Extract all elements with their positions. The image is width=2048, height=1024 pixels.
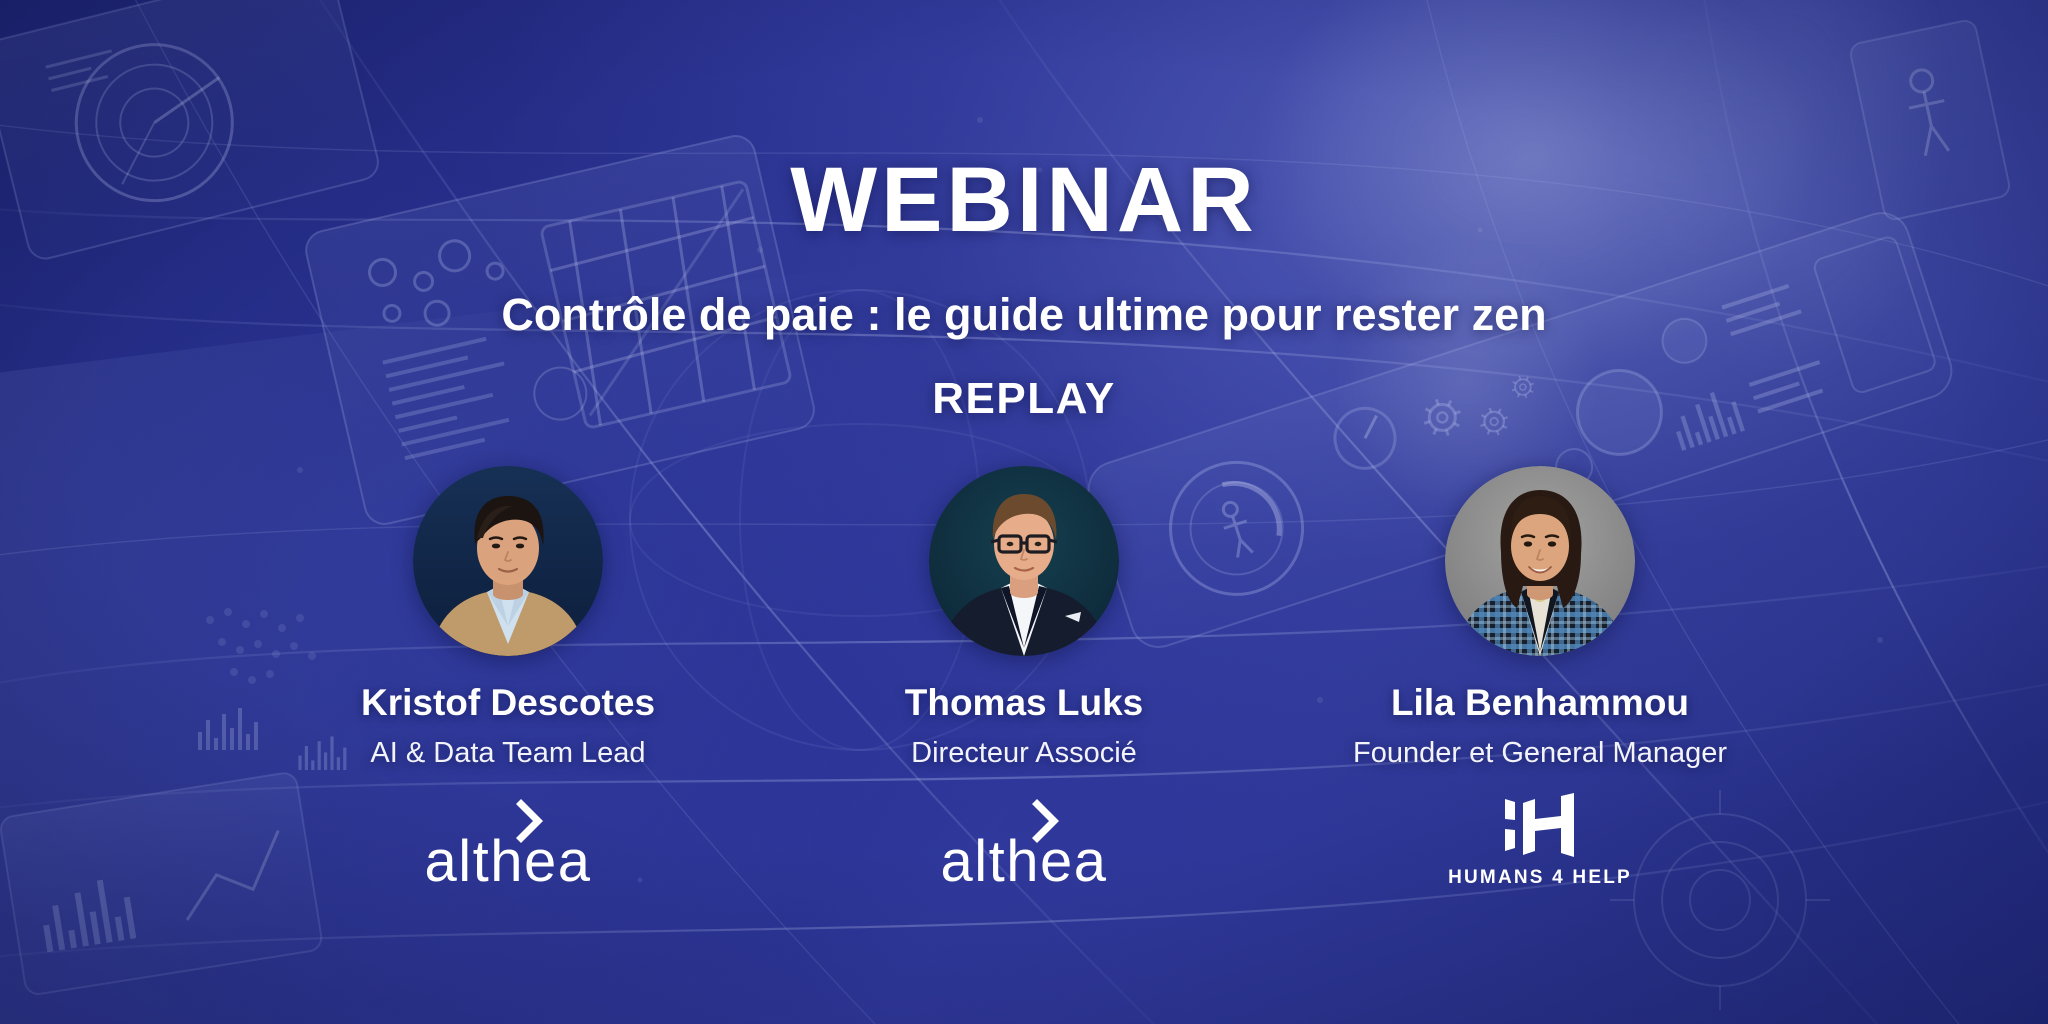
h4h-monogram-icon bbox=[1505, 793, 1574, 857]
webinar-title: Contrôle de paie : le guide ultime pour … bbox=[501, 290, 1546, 340]
webinar-banner: WEBINAR Contrôle de paie : le guide ulti… bbox=[0, 0, 2048, 1024]
speaker-company-logo: althea bbox=[899, 793, 1149, 889]
avatar-thomas-luks bbox=[929, 466, 1119, 656]
althea-logo: althea bbox=[899, 795, 1149, 887]
speaker-list: Kristof Descotes AI & Data Team Lead alt… bbox=[293, 466, 1755, 889]
speaker-name: Lila Benhammou bbox=[1391, 682, 1689, 725]
avatar-kristof-descotes bbox=[413, 466, 603, 656]
speaker-card: Thomas Luks Directeur Associé althea bbox=[809, 466, 1239, 889]
speaker-card: Lila Benhammou Founder et General Manage… bbox=[1325, 466, 1755, 889]
speaker-role: AI & Data Team Lead bbox=[370, 736, 645, 771]
svg-text:althea: althea bbox=[424, 829, 591, 887]
althea-logo: althea bbox=[383, 795, 633, 887]
speaker-card: Kristof Descotes AI & Data Team Lead alt… bbox=[293, 466, 723, 889]
banner-content: WEBINAR Contrôle de paie : le guide ulti… bbox=[0, 0, 2048, 1024]
svg-text:althea: althea bbox=[940, 829, 1107, 887]
replay-label: REPLAY bbox=[932, 374, 1115, 424]
speaker-name: Thomas Luks bbox=[905, 682, 1144, 725]
speaker-company-logo: HUMANS 4 HELP bbox=[1435, 793, 1645, 889]
speaker-role: Directeur Associé bbox=[911, 736, 1137, 771]
speaker-role: Founder et General Manager bbox=[1353, 736, 1727, 771]
avatar-lila-benhammou bbox=[1445, 466, 1635, 656]
svg-text:HUMANS 4 HELP: HUMANS 4 HELP bbox=[1448, 867, 1632, 888]
webinar-kicker: WEBINAR bbox=[790, 154, 1258, 246]
humans-4-help-logo: HUMANS 4 HELP bbox=[1435, 793, 1645, 889]
speaker-company-logo: althea bbox=[383, 793, 633, 889]
speaker-name: Kristof Descotes bbox=[361, 682, 655, 725]
